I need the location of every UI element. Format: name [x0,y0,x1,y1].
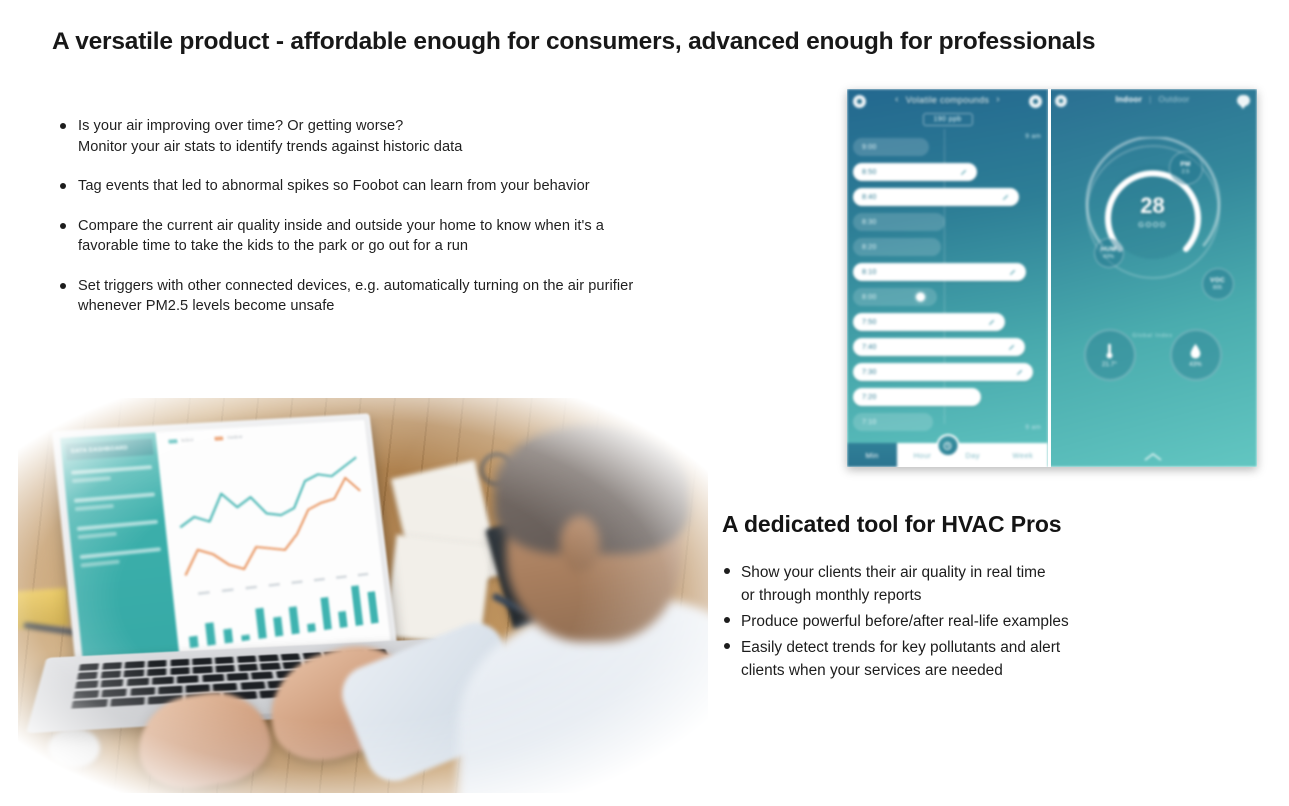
app-panel-dashboard: Indoor|Outdoor 28 GOOD PM 2.5 [1048,89,1257,467]
history-row[interactable]: 7:20 [847,385,1048,410]
row-time-label: 7:30 [862,369,876,376]
history-row[interactable]: 8:40 [847,185,1048,210]
key[interactable] [227,673,249,681]
app-panel-history: ‹Volatile compounds› 190 ppb 9 am 9 am 9… [847,89,1048,467]
key[interactable] [170,659,189,666]
history-bar[interactable]: 8:50 [853,163,977,181]
toggle-separator: | [1149,95,1151,104]
bullet-icon [724,568,730,574]
pm-bubble[interactable]: PM 2.5 [1169,151,1203,185]
hvac-line: Produce powerful before/after real-life … [741,610,1242,633]
row-time-label: 8:50 [862,169,876,176]
key[interactable] [215,657,235,664]
bar [255,608,266,639]
feature-line: Set triggers with other connected device… [78,276,848,297]
desk-photo: DATA DASHBOARD Indoor [18,398,708,793]
dashboard-main: Indoor Outdoor [155,420,390,670]
hum-bubble-value: 43% [1103,254,1114,260]
history-row[interactable]: 8:30 [847,210,1048,235]
key[interactable] [237,656,257,663]
row-time-label: 7:10 [862,419,876,426]
list-item: Tag events that led to abnormal spikes s… [58,176,848,197]
sidebar-item[interactable] [74,492,156,511]
series-outdoor [176,477,368,576]
bar [307,623,316,632]
series-indoor [174,457,362,527]
key[interactable] [192,658,211,665]
pm-bubble-value: 2.5 [1182,169,1190,175]
history-row[interactable]: 8:10 [847,260,1048,285]
person [448,398,708,788]
bar [351,585,363,626]
tab-outdoor[interactable]: Outdoor [1159,95,1190,104]
key[interactable] [102,688,127,697]
history-row[interactable]: 9:00 [847,135,1048,160]
history-row[interactable]: 7:10 [847,410,1048,435]
tab-week[interactable]: Week [998,451,1048,460]
x-tick [268,583,279,587]
clock-icon[interactable] [936,434,959,457]
tab-min[interactable]: Min [847,443,897,467]
feature-line: favorable time to take the kids to the p… [78,236,848,257]
key[interactable] [170,667,190,675]
panel-divider [1048,89,1051,467]
key[interactable] [215,665,235,673]
hvac-line: clients when your services are needed [741,659,1242,682]
droplet-icon [1189,343,1202,360]
feature-line: Is your air improving over time? Or gett… [78,116,848,137]
humidity-sensor[interactable]: 43% [1170,329,1222,381]
history-bar[interactable]: 8:40 [853,188,1019,206]
key[interactable] [130,687,155,696]
key[interactable] [75,681,98,689]
key[interactable] [251,672,273,680]
history-bar[interactable]: 9:00 [853,138,929,156]
x-tick [222,588,234,592]
bar [338,611,347,628]
x-tick [336,575,347,579]
legend-swatch [215,436,224,440]
x-tick [357,573,368,576]
bar [223,629,233,644]
key[interactable] [260,663,280,671]
key[interactable] [124,670,144,678]
key[interactable] [127,678,149,686]
sidebar-header: DATA DASHBOARD [65,439,153,461]
key[interactable] [77,672,98,680]
history-bar[interactable]: 8:10 [853,263,1026,281]
hvac-section: A dedicated tool for HVAC Pros Show your… [722,511,1242,685]
key[interactable] [177,676,199,684]
infographic-page: A versatile product - affordable enough … [0,0,1289,806]
key[interactable] [148,660,167,668]
bar [288,606,299,634]
dashboard-header: Indoor|Outdoor [1048,89,1257,113]
history-bar[interactable]: 8:20 [853,238,941,256]
bullet-icon [60,283,66,289]
legend-item-indoor: Indoor [168,437,194,444]
key[interactable] [259,654,279,661]
feature-line: Tag events that led to abnormal spikes s… [78,176,848,197]
key[interactable] [213,683,238,691]
hvac-title: A dedicated tool for HVAC Pros [722,511,1242,538]
ear [560,516,600,572]
list-item: Compare the current air quality inside a… [58,216,848,257]
pencil-icon[interactable] [1016,368,1024,376]
sidebar-item[interactable] [71,465,153,483]
history-bar[interactable]: 8:30 [853,213,945,231]
feature-line: whenever PM2.5 levels become unsafe [78,296,848,317]
history-row[interactable]: 8:50 [847,160,1048,185]
pm-bubble-title: PM [1180,161,1190,168]
bar [320,597,331,630]
bullet-icon [724,643,730,649]
unit-badge: 190 ppb [922,113,972,126]
history-bar[interactable]: 7:20 [853,388,981,406]
key[interactable] [102,662,122,670]
history-bar[interactable]: 7:50 [853,313,1005,331]
key[interactable] [79,663,100,671]
row-time-label: 8:20 [862,244,876,251]
key[interactable] [152,677,174,685]
feature-line: Compare the current air quality inside a… [78,216,848,237]
pencil-icon[interactable] [1002,193,1010,201]
tab-indoor[interactable]: Indoor [1115,95,1142,104]
bullet-icon [60,223,66,229]
page-title: A versatile product - affordable enough … [52,28,1252,56]
hvac-line: Easily detect trends for key pollutants … [741,636,1242,659]
key[interactable] [238,664,258,672]
chevron-up-icon[interactable] [1143,449,1163,459]
key[interactable] [240,681,265,689]
history-row[interactable]: 7:50 [847,310,1048,335]
key[interactable] [193,666,213,674]
key[interactable] [101,671,122,679]
row-time-label: 7:50 [862,319,876,326]
row-time-label: 8:40 [862,194,876,201]
legend-label: Indoor [181,437,194,443]
list-item: Easily detect trends for key pollutants … [722,636,1242,682]
history-bar[interactable]: 8:00 [853,288,937,306]
key[interactable] [71,699,107,709]
pencil-icon[interactable] [988,318,996,326]
gauge-status: GOOD [1138,220,1167,229]
gauge-value: 28 [1138,195,1167,217]
key[interactable] [202,674,224,682]
voc-bubble[interactable]: VOC 805 [1202,268,1234,300]
humidity-value: 43% [1189,362,1202,368]
list-item: Is your air improving over time? Or gett… [58,116,848,157]
list-item: Produce powerful before/after real-life … [722,610,1242,633]
history-bar[interactable]: 7:30 [853,363,1033,381]
history-row[interactable]: 7:40 [847,335,1048,360]
history-row[interactable]: 8:20 [847,235,1048,260]
history-row-list: 9:008:508:408:308:208:108:007:507:407:30… [847,135,1048,435]
hvac-line: or through monthly reports [741,584,1242,607]
row-time-label: 9:00 [862,144,876,151]
history-title: Volatile compounds [906,95,989,105]
bar [367,591,378,623]
key[interactable] [147,668,167,676]
voc-bubble-title: VOC [1210,277,1225,284]
key[interactable] [101,679,124,687]
row-time-label: 8:00 [862,294,876,301]
legend-item-outdoor: Outdoor [215,434,243,441]
thermometer-icon [1104,342,1115,360]
legend-label: Outdoor [227,434,243,440]
history-title-bar: ‹Volatile compounds› [847,94,1048,105]
line-chart [163,435,378,599]
legend-swatch [168,439,177,444]
key[interactable] [125,661,145,669]
sidebar-item[interactable] [77,520,159,540]
mobile-app-screenshot: ‹Volatile compounds› 190 ppb 9 am 9 am 9… [847,89,1257,467]
chevron-right-icon[interactable]: › [996,94,1000,105]
pencil-icon[interactable] [1009,268,1017,276]
key[interactable] [186,684,210,693]
pencil-icon[interactable] [960,168,968,176]
chevron-left-icon[interactable]: ‹ [895,94,899,105]
indoor-outdoor-toggle[interactable]: Indoor|Outdoor [1048,95,1257,104]
bar [273,617,283,637]
hum-bubble[interactable]: HUM 43% [1094,238,1124,268]
pencil-icon[interactable] [1008,343,1016,351]
bullet-icon [60,183,66,189]
temperature-sensor[interactable]: 21.7° [1084,329,1136,381]
key[interactable] [110,697,145,706]
row-time-label: 8:10 [862,269,876,276]
air-quality-gauge[interactable]: 28 GOOD PM 2.5 HUM 43% VOC 805 Global In… [1078,137,1228,287]
list-item: Set triggers with other connected device… [58,276,848,317]
history-header: ‹Volatile compounds› [847,89,1048,113]
feature-line: Monitor your air stats to identify trend… [78,137,848,158]
history-row[interactable]: 8:00 [847,285,1048,310]
key[interactable] [158,685,182,694]
feature-list: Is your air improving over time? Or gett… [58,116,848,336]
list-item: Show your clients their air quality in r… [722,561,1242,607]
row-time-label: 8:30 [862,219,876,226]
history-bar[interactable]: 7:40 [853,338,1025,356]
x-tick [291,580,302,584]
sidebar-item[interactable] [80,547,162,567]
history-row[interactable]: 7:30 [847,360,1048,385]
x-tick [198,591,210,595]
key[interactable] [280,653,300,660]
temperature-value: 21.7° [1102,362,1117,368]
x-tick [314,578,325,582]
x-tick [245,586,256,590]
hum-bubble-title: HUM [1101,246,1117,253]
bar [241,635,250,642]
key[interactable] [73,690,99,699]
row-time-label: 7:20 [862,394,876,401]
row-time-label: 7:40 [862,344,876,351]
gauge-readout: 28 GOOD [1138,195,1167,229]
bullet-icon [724,617,730,623]
voc-bubble-value: 805 [1213,285,1222,291]
bar [189,636,199,648]
bar [205,622,216,645]
hvac-line: Show your clients their air quality in r… [741,561,1242,584]
bullet-icon [60,123,66,129]
time-range-tabs: MinHourDayWeek [847,443,1048,467]
sensor-widgets: 21.7° 43% [1048,329,1257,381]
history-bar[interactable]: 7:10 [853,413,933,431]
event-marker[interactable] [916,293,925,302]
